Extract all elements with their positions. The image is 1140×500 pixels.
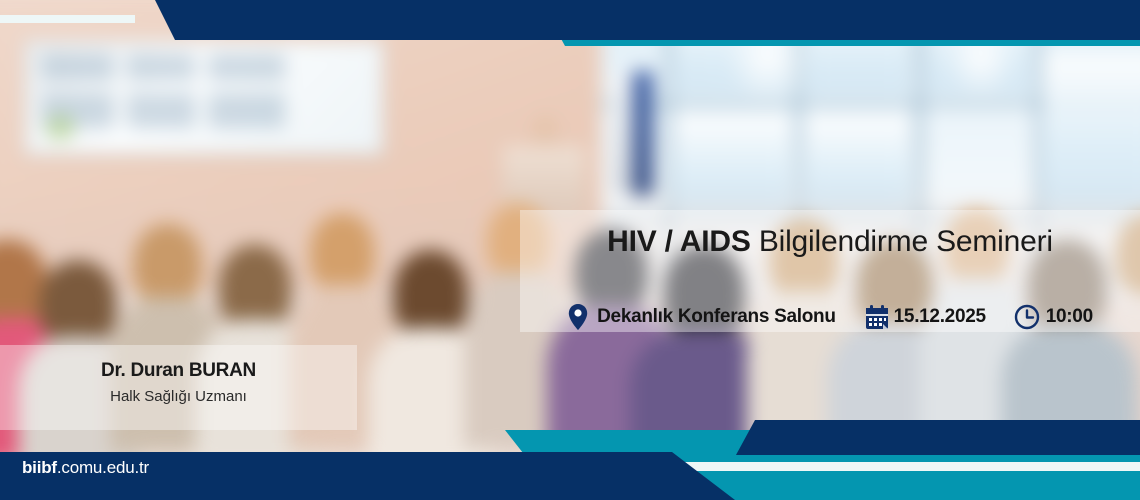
calendar-icon bbox=[864, 304, 890, 331]
flag-left bbox=[614, 73, 631, 193]
footer-url-bold: biibf bbox=[22, 458, 57, 477]
time-group: 10:00 bbox=[1014, 304, 1093, 330]
time-label: 10:00 bbox=[1046, 306, 1093, 328]
date-label: 15.12.2025 bbox=[894, 306, 986, 328]
footer-url-rest: .comu.edu.tr bbox=[57, 458, 149, 477]
clock-icon bbox=[1014, 304, 1040, 330]
map-pin-icon bbox=[567, 303, 589, 331]
speaker-silhouette bbox=[532, 115, 559, 146]
footer-url[interactable]: biibf.comu.edu.tr bbox=[22, 458, 149, 478]
speaker-name: Dr. Duran BURAN bbox=[0, 360, 357, 382]
event-meta-row: Dekanlık Konferans Salonu bbox=[520, 300, 1140, 334]
projector-screen bbox=[24, 40, 384, 155]
event-banner: HIV / AIDS Bilgilendirme Semineri Dekanl… bbox=[0, 0, 1140, 500]
location-label: Dekanlık Konferans Salonu bbox=[597, 306, 836, 328]
date-group: 15.12.2025 bbox=[864, 304, 986, 331]
event-title: HIV / AIDS Bilgilendirme Semineri bbox=[520, 225, 1140, 259]
event-title-regular: Bilgilendirme Semineri bbox=[751, 225, 1053, 258]
flag-right bbox=[632, 71, 653, 196]
event-title-bold: HIV / AIDS bbox=[607, 225, 751, 258]
location-group: Dekanlık Konferans Salonu bbox=[567, 303, 836, 331]
speaker-role: Halk Sağlığı Uzmanı bbox=[0, 388, 357, 405]
top-white-stripe bbox=[0, 15, 135, 23]
